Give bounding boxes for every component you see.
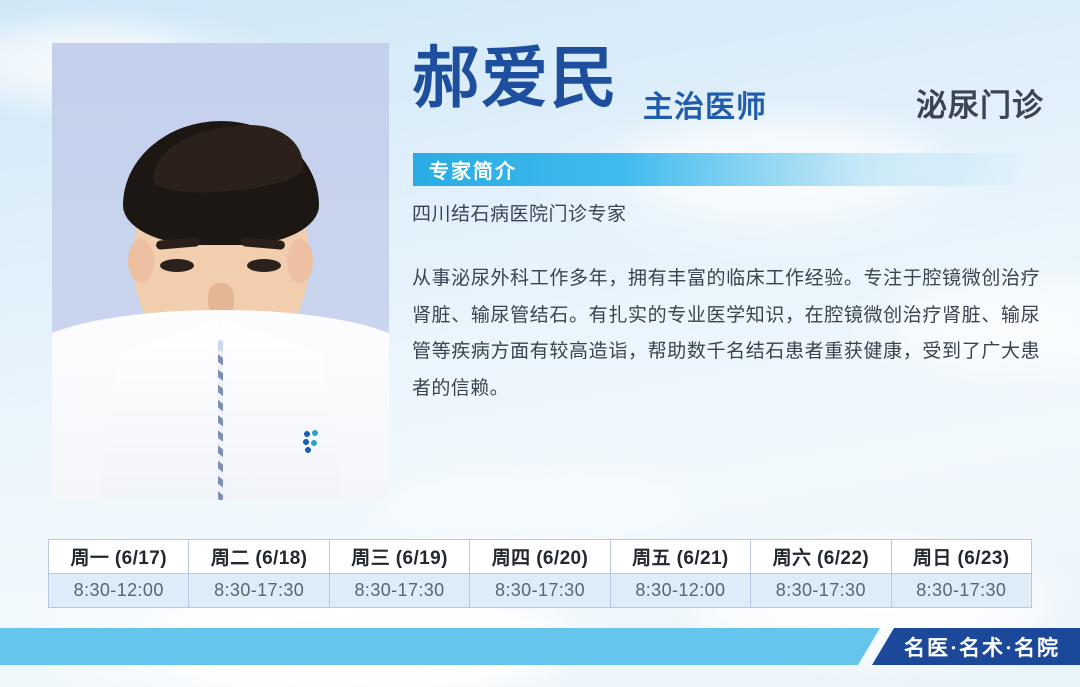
- schedule-day-label: 周五 (6/21): [610, 540, 750, 574]
- schedule-day-time: 8:30-17:30: [189, 574, 329, 608]
- photo-eye-left: [160, 259, 194, 272]
- doctor-profile-card: 郝爱民 主治医师 泌尿门诊 专家简介 四川结石病医院门诊专家 从事泌尿外科工作多…: [0, 0, 1080, 687]
- footer-blue-band: [0, 628, 880, 665]
- schedule-day-time: 8:30-17:30: [329, 574, 469, 608]
- schedule-day-time: 8:30-12:00: [49, 574, 189, 608]
- doctor-name: 郝爱民: [412, 46, 619, 113]
- schedule-day-time: 8:30-12:00: [610, 574, 750, 608]
- schedule-header-row: 周一 (6/17) 周二 (6/18) 周三 (6/19) 周四 (6/20) …: [49, 540, 1032, 574]
- schedule-day-label: 周一 (6/17): [49, 540, 189, 574]
- hospital-logo-icon: [303, 430, 323, 454]
- schedule-times-row: 8:30-12:00 8:30-17:30 8:30-17:30 8:30-17…: [49, 574, 1032, 608]
- schedule-day-label: 周二 (6/18): [189, 540, 329, 574]
- footer-banner: 名医·名术·名院: [0, 628, 1080, 665]
- section-header-label: 专家简介: [413, 155, 517, 184]
- cloud-decoration: [380, 470, 680, 540]
- doctor-rank: 主治医师: [643, 82, 767, 126]
- photo-ear-right: [287, 239, 313, 283]
- biography: 四川结石病医院门诊专家 从事泌尿外科工作多年，拥有丰富的临床工作经验。专注于腔镜…: [412, 200, 1040, 407]
- schedule-day-label: 周日 (6/23): [891, 540, 1031, 574]
- department-label: 泌尿门诊: [916, 80, 1044, 125]
- weekly-schedule-table: 周一 (6/17) 周二 (6/18) 周三 (6/19) 周四 (6/20) …: [48, 539, 1032, 608]
- biography-body: 从事泌尿外科工作多年，拥有丰富的临床工作经验。专注于腔镜微创治疗肾脏、输尿管结石…: [412, 261, 1040, 407]
- schedule-day-time: 8:30-17:30: [470, 574, 610, 608]
- footer-slogan-tag: 名医·名术·名院: [872, 628, 1080, 665]
- footer-slogan-label: 名医·名术·名院: [892, 632, 1060, 662]
- schedule-day-time: 8:30-17:30: [891, 574, 1031, 608]
- schedule-day-time: 8:30-17:30: [751, 574, 891, 608]
- schedule-day-label: 周四 (6/20): [470, 540, 610, 574]
- photo-eye-right: [247, 259, 281, 272]
- doctor-photo: [52, 43, 389, 500]
- schedule-day-label: 周三 (6/19): [329, 540, 469, 574]
- schedule-day-label: 周六 (6/22): [751, 540, 891, 574]
- section-header-bar: 专家简介: [413, 153, 1033, 186]
- photo-ear-left: [128, 239, 154, 283]
- doctor-header: 郝爱民 主治医师 泌尿门诊: [412, 50, 1044, 136]
- biography-lead: 四川结石病医院门诊专家: [412, 200, 1040, 230]
